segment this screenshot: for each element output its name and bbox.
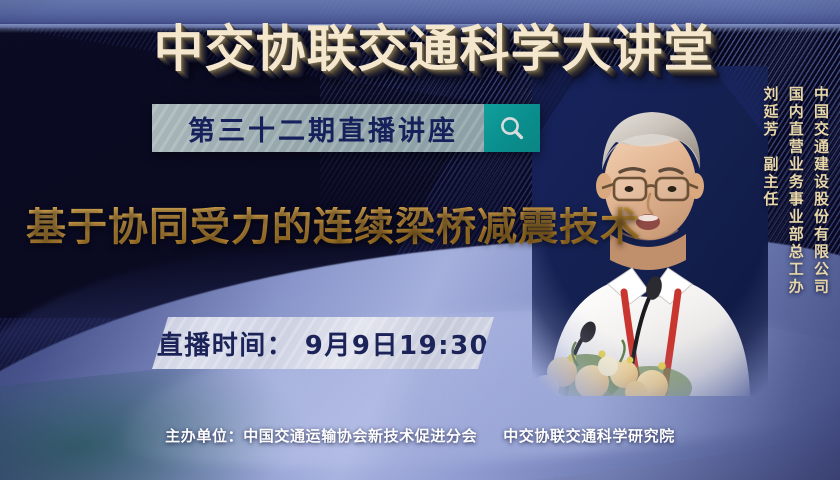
session-label: 第三十二期直播讲座 xyxy=(152,104,484,152)
lecture-topic: 基于协同受力的连续梁桥减震技术 xyxy=(26,207,641,247)
footer-organizers: 主办单位：中国交通运输协会新技术促进分会中交协联交通科学研究院 xyxy=(0,425,840,446)
session-banner[interactable]: 第三十二期直播讲座 xyxy=(152,104,540,152)
footer-organizer-2: 中交协联交通科学研究院 xyxy=(503,427,675,445)
search-icon[interactable] xyxy=(484,104,540,152)
speaker-credits: 刘延芳 副主任 国内直营业务事业部总工办 中国交通建设股份有限公司 xyxy=(758,86,834,296)
footer-prefix: 主办单位： xyxy=(165,427,243,445)
live-time-badge: 直播时间： 9月9日19:30 xyxy=(152,317,494,369)
speaker-department: 国内直营业务事业部总工办 xyxy=(784,86,807,296)
poster-canvas: 刘延芳 副主任 国内直营业务事业部总工办 中国交通建设股份有限公司 中交协联交通… xyxy=(0,0,840,480)
live-time-text: 直播时间： 9月9日19:30 xyxy=(157,325,490,362)
speaker-company: 中国交通建设股份有限公司 xyxy=(809,86,832,296)
page-title: 中交协联交通科学大讲堂 xyxy=(0,24,840,74)
footer-organizer-1: 中国交通运输协会新技术促进分会 xyxy=(243,427,477,445)
speaker-name-role: 刘延芳 副主任 xyxy=(758,86,781,209)
